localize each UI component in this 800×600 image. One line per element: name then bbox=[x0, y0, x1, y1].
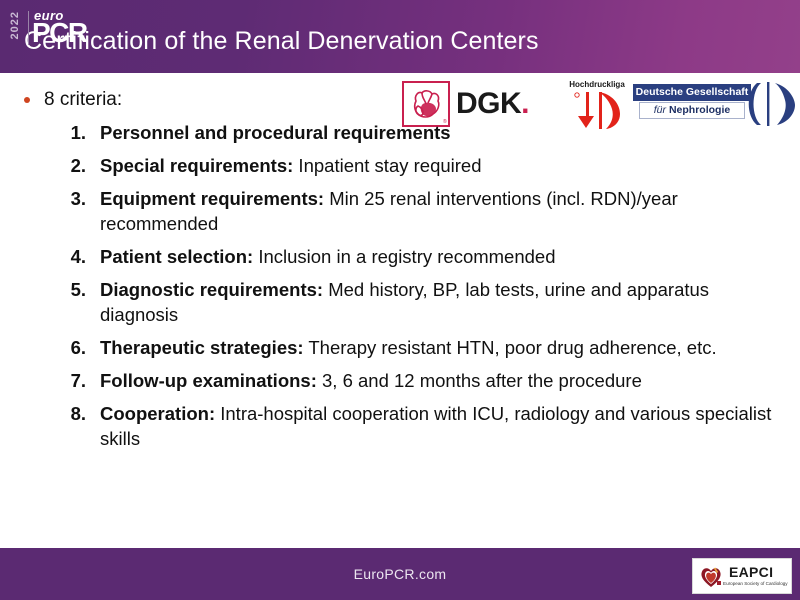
eapci-sub-marker bbox=[717, 581, 721, 585]
list-item-number: 6. bbox=[62, 335, 86, 360]
list-item-number: 4. bbox=[62, 244, 86, 269]
criteria-intro-text: 8 criteria: bbox=[44, 89, 122, 110]
list-item-label: Special requirements: bbox=[100, 155, 293, 176]
list-item-label: Therapeutic strategies: bbox=[100, 337, 304, 358]
eapci-logo: EAPCI European Society of Cardiology bbox=[692, 558, 792, 594]
list-item-number: 7. bbox=[62, 368, 86, 393]
list-item: 8.Cooperation: Intra-hospital cooperatio… bbox=[0, 401, 800, 451]
list-item: 2.Special requirements: Inpatient stay r… bbox=[0, 153, 800, 178]
footer-url[interactable]: EuroPCR.com bbox=[0, 566, 800, 582]
footer-logo-divider bbox=[28, 11, 29, 45]
list-item-number: 5. bbox=[62, 277, 86, 302]
list-item-label: Diagnostic requirements: bbox=[100, 279, 323, 300]
list-item-number: 3. bbox=[62, 186, 86, 211]
eapci-subtitle: European Society of Cardiology bbox=[723, 581, 788, 587]
list-item: 5.Diagnostic requirements: Med history, … bbox=[0, 277, 800, 327]
criteria-intro-line: 8 criteria: bbox=[0, 88, 800, 112]
list-item-number: 8. bbox=[62, 401, 86, 426]
europcr-wordmark-bottom: PCR bbox=[32, 19, 87, 47]
list-item: 1.Personnel and procedural requirements bbox=[0, 120, 800, 145]
list-item-text: Inpatient stay required bbox=[293, 155, 481, 176]
footer-year: 2022 bbox=[10, 11, 21, 39]
list-item-label: Follow-up examinations: bbox=[100, 370, 317, 391]
list-item: 6.Therapeutic strategies: Therapy resist… bbox=[0, 335, 800, 360]
list-item-text: 3, 6 and 12 months after the procedure bbox=[317, 370, 642, 391]
list-item-label: Cooperation: bbox=[100, 403, 215, 424]
eapci-wordmark: EAPCI bbox=[729, 565, 773, 579]
bullet-point-icon bbox=[24, 97, 30, 103]
europcr-logo: 2022 euro PCR bbox=[8, 5, 104, 49]
list-item-number: 2. bbox=[62, 153, 86, 178]
list-item-text: Therapy resistant HTN, poor drug adheren… bbox=[304, 337, 717, 358]
list-item: 3.Equipment requirements: Min 25 renal i… bbox=[0, 186, 800, 236]
list-item: 7.Follow-up examinations: 3, 6 and 12 mo… bbox=[0, 368, 800, 393]
heart-icon bbox=[699, 565, 723, 589]
list-item: 4.Patient selection: Inclusion in a regi… bbox=[0, 244, 800, 269]
slide-content: 8 criteria: 1.Personnel and procedural r… bbox=[0, 88, 800, 459]
criteria-list: 1.Personnel and procedural requirements … bbox=[0, 120, 800, 451]
list-item-label: Personnel and procedural requirements bbox=[100, 122, 451, 143]
list-item-label: Equipment requirements: bbox=[100, 188, 324, 209]
list-item-number: 1. bbox=[62, 120, 86, 145]
list-item-text: Inclusion in a registry recommended bbox=[253, 246, 555, 267]
list-item-label: Patient selection: bbox=[100, 246, 253, 267]
